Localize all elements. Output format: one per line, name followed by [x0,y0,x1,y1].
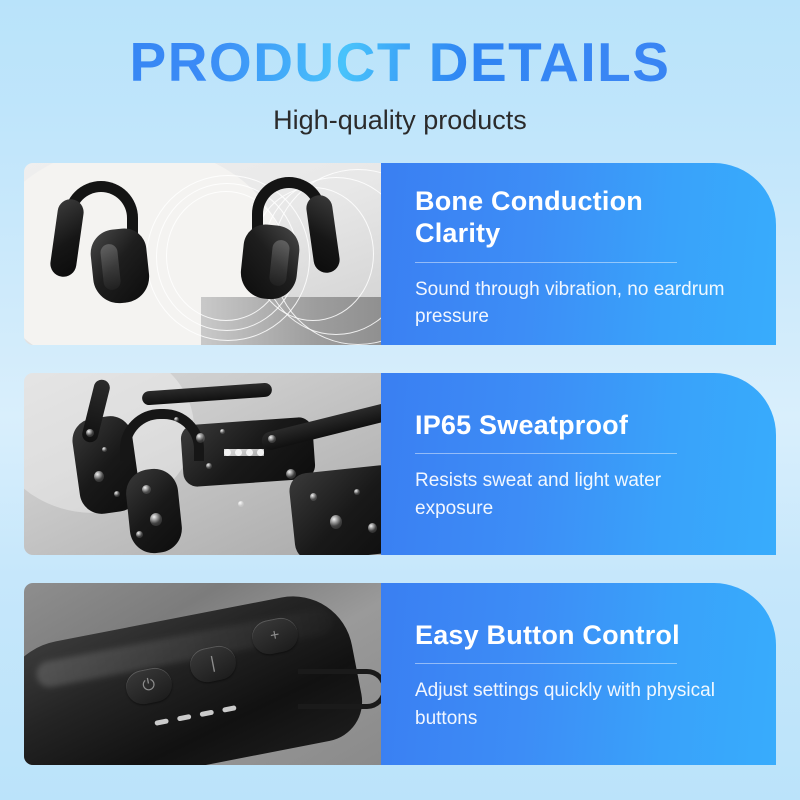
water-droplet [268,435,276,443]
product-details-page: PRODUCT DETAILS High-quality products [0,0,800,800]
feature-card: Bone Conduction Clarity Sound through vi… [381,163,776,345]
headphone-cable [298,669,381,709]
feature-divider [415,663,677,664]
page-header: PRODUCT DETAILS High-quality products [0,0,800,135]
feature-list: Bone Conduction Clarity Sound through vi… [0,163,800,765]
product-photo-sweatproof [24,373,381,555]
water-droplet [310,493,317,501]
feature-description: Adjust settings quickly with physical bu… [415,677,725,732]
water-droplet [286,469,296,479]
water-droplet [220,429,225,434]
product-photo-bone-conduction [24,163,381,345]
led-dot [257,449,264,456]
feature-divider [415,262,677,263]
feature-description: Resists sweat and light water exposure [415,467,725,522]
page-subtitle: High-quality products [0,106,800,136]
headphone-transducer-pod [238,222,301,301]
feature-card: IP65 Sweatproof Resists sweat and light … [381,373,776,555]
feature-row: IP65 Sweatproof Resists sweat and light … [24,373,776,555]
water-droplet [368,523,377,533]
water-droplet [114,491,120,497]
feature-title: IP65 Sweatproof [415,409,715,441]
led-dot [224,449,231,456]
product-photo-button-control: ⏻ ❘ + [24,583,381,765]
water-droplet [150,513,162,526]
water-droplet [330,515,342,529]
water-droplet [238,501,244,507]
feature-title: Bone Conduction Clarity [415,185,715,250]
water-droplet [174,417,179,422]
feature-card: Easy Button Control Adjust settings quic… [381,583,776,765]
led-dot [235,449,242,456]
headphone-second-unit [288,463,381,555]
water-droplet [102,447,107,452]
feature-description: Sound through vibration, no eardrum pres… [415,276,725,331]
headphone-transducer-pod [124,467,184,555]
feature-row: ⏻ ❘ + Easy Button Control Adjust setting… [24,583,776,765]
headphone-right-unit [236,177,344,297]
water-droplet [94,471,104,482]
water-droplet [86,429,94,437]
water-droplet [142,485,151,494]
led-dot [246,449,253,456]
headphone-transducer-pod [88,226,151,305]
water-droplet [196,433,205,443]
led-indicator-group [224,449,264,456]
water-droplet [206,463,212,469]
feature-divider [415,453,677,454]
headphone-rear-tip [49,198,86,279]
headphone-rear-tip [305,194,342,275]
feature-row: Bone Conduction Clarity Sound through vi… [24,163,776,345]
water-droplet [136,531,143,538]
page-title: PRODUCT DETAILS [0,34,800,92]
water-droplet [354,489,360,495]
feature-title: Easy Button Control [415,619,715,651]
headphone-left-unit [46,181,154,301]
